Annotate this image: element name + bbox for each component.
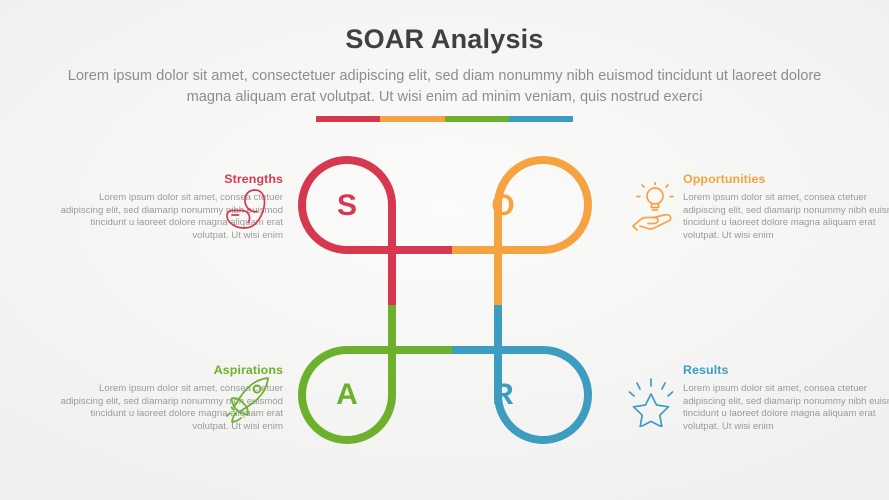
color-divider xyxy=(316,116,573,122)
body-opportunities: Lorem ipsum dolor sit amet, consea ctetu… xyxy=(683,192,889,242)
block-results: Results Lorem ipsum dolor sit amet, cons… xyxy=(683,363,889,433)
divider-segment-opportunities xyxy=(380,116,444,122)
body-results: Lorem ipsum dolor sit amet, consea ctetu… xyxy=(683,383,889,433)
rocket-icon xyxy=(226,375,272,425)
page-subtitle: Lorem ipsum dolor sit amet, consectetuer… xyxy=(60,66,830,108)
heading-results: Results xyxy=(683,363,889,377)
letter-r: R xyxy=(483,375,523,415)
loop-path-aspirations xyxy=(302,350,452,440)
divider-segment-strengths xyxy=(316,116,380,122)
letter-o: O xyxy=(483,186,523,226)
heading-opportunities: Opportunities xyxy=(683,172,889,186)
sparkle-star-icon xyxy=(628,377,674,427)
hand-lightbulb-icon xyxy=(630,182,676,232)
divider-segment-results xyxy=(509,116,573,122)
page-title: SOAR Analysis xyxy=(0,0,889,55)
page-header: SOAR Analysis Lorem ipsum dolor sit amet… xyxy=(0,0,889,108)
letter-s: S xyxy=(327,186,367,226)
soar-diagram: S O A R xyxy=(288,143,602,457)
loop-path-strengths xyxy=(302,160,452,250)
letter-a: A xyxy=(327,375,367,415)
muscle-arm-icon xyxy=(224,184,270,234)
divider-segment-aspirations xyxy=(445,116,509,122)
block-opportunities: Opportunities Lorem ipsum dolor sit amet… xyxy=(683,172,889,242)
